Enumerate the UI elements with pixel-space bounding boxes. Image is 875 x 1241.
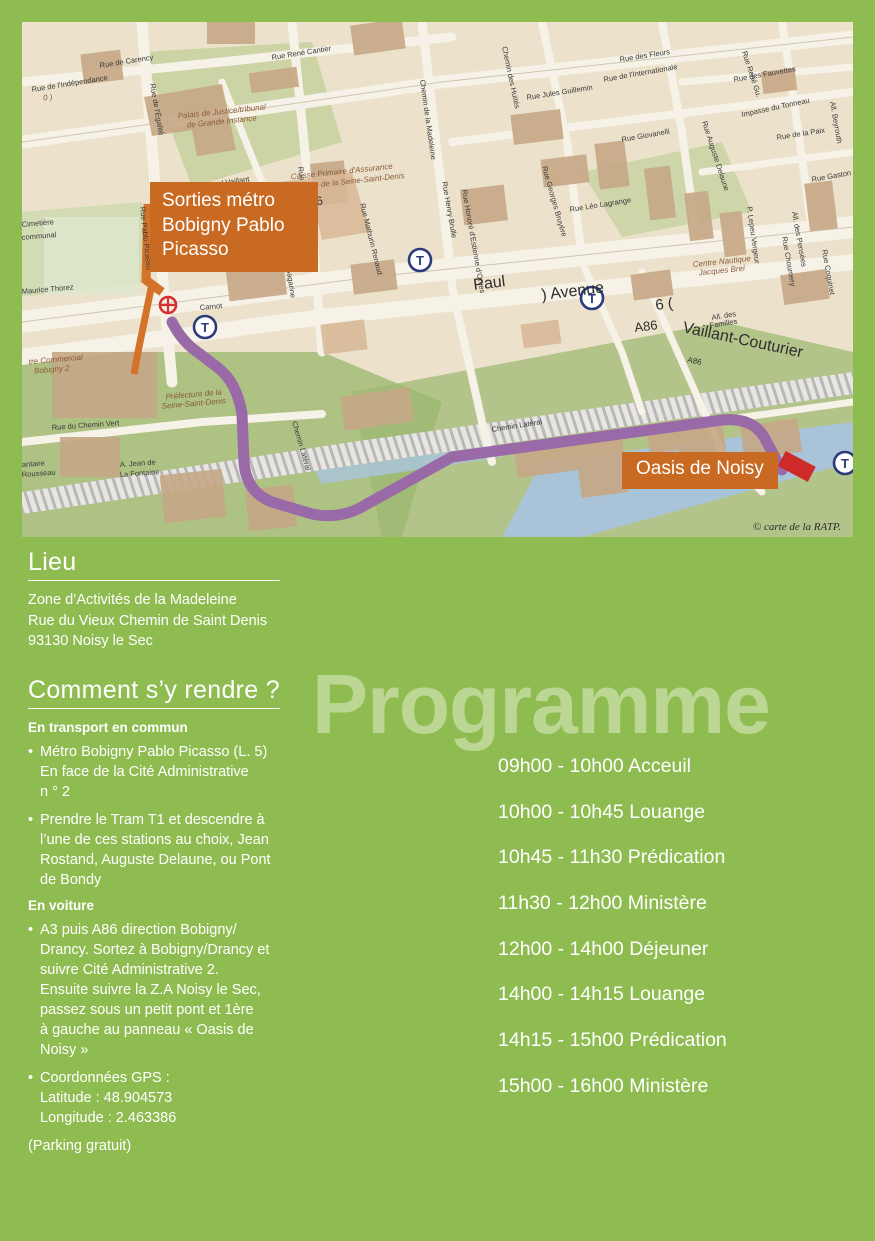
list-item: Prendre le Tram T1 et descendre à l’une … — [28, 810, 318, 890]
list-item-gps: Coordonnées GPS : Latitude : 48.904573 L… — [28, 1068, 318, 1128]
public-transport-list: Métro Bobigny Pablo Picasso (L. 5) En fa… — [28, 742, 318, 890]
schedule-item: 11h30 - 12h00 Ministère — [498, 894, 727, 914]
parking-note: (Parking gratuit) — [28, 1138, 318, 1154]
schedule-item: 09h00 - 10h00 Acceuil — [498, 757, 727, 777]
svg-text:6 (: 6 ( — [654, 295, 673, 314]
map-credit: © carte de la RATP. — [753, 521, 841, 533]
schedule-item: 10h00 - 10h45 Louange — [498, 803, 727, 823]
address-line-1: Zone d’Activités de la Madeleine — [28, 590, 318, 611]
schedule-item: 14h00 - 14h15 Louange — [498, 985, 727, 1005]
schedule-item: 14h15 - 15h00 Prédication — [498, 1031, 727, 1051]
metro-symbol — [159, 296, 177, 314]
how-to-get-there-heading: Comment s’y rendre ? — [28, 676, 280, 709]
by-car-label: En voiture — [28, 898, 318, 913]
programme-title: Programme — [312, 662, 770, 746]
svg-text:A86: A86 — [634, 317, 659, 335]
svg-text:antaire: antaire — [22, 458, 45, 469]
address-line-3: 93130 Noisy le Sec — [28, 631, 318, 652]
by-car-list: A3 puis A86 direction Bobigny/ Drancy. S… — [28, 920, 318, 1128]
svg-text:0 ): 0 ) — [43, 93, 54, 103]
list-item: Métro Bobigny Pablo Picasso (L. 5) En fa… — [28, 742, 318, 802]
directions-panel: Lieu Zone d’Activités de la Madeleine Ru… — [28, 548, 318, 1154]
map-callout-metro-exits: Sorties métro Bobigny Pablo Picasso — [150, 182, 318, 272]
public-transport-label: En transport en commun — [28, 720, 318, 735]
svg-text:T: T — [841, 456, 849, 471]
svg-text:T: T — [416, 253, 424, 268]
schedule-item: 10h45 - 11h30 Prédication — [498, 848, 727, 868]
schedule-item: 15h00 - 16h00 Ministère — [498, 1077, 727, 1097]
map-callout-oasis-de-noisy: Oasis de Noisy — [622, 452, 778, 489]
programme-schedule: 09h00 - 10h00 Acceuil 10h00 - 10h45 Loua… — [498, 757, 727, 1123]
address-line-2: Rue du Vieux Chemin de Saint Denis — [28, 611, 318, 632]
schedule-item: 12h00 - 14h00 Déjeuner — [498, 940, 727, 960]
list-item: A3 puis A86 direction Bobigny/ Drancy. S… — [28, 920, 318, 1060]
location-map[interactable]: T T T T Rue de l'Indépendance Rue de Car… — [22, 22, 853, 537]
lieu-heading: Lieu — [28, 548, 280, 581]
svg-text:T: T — [201, 320, 209, 335]
